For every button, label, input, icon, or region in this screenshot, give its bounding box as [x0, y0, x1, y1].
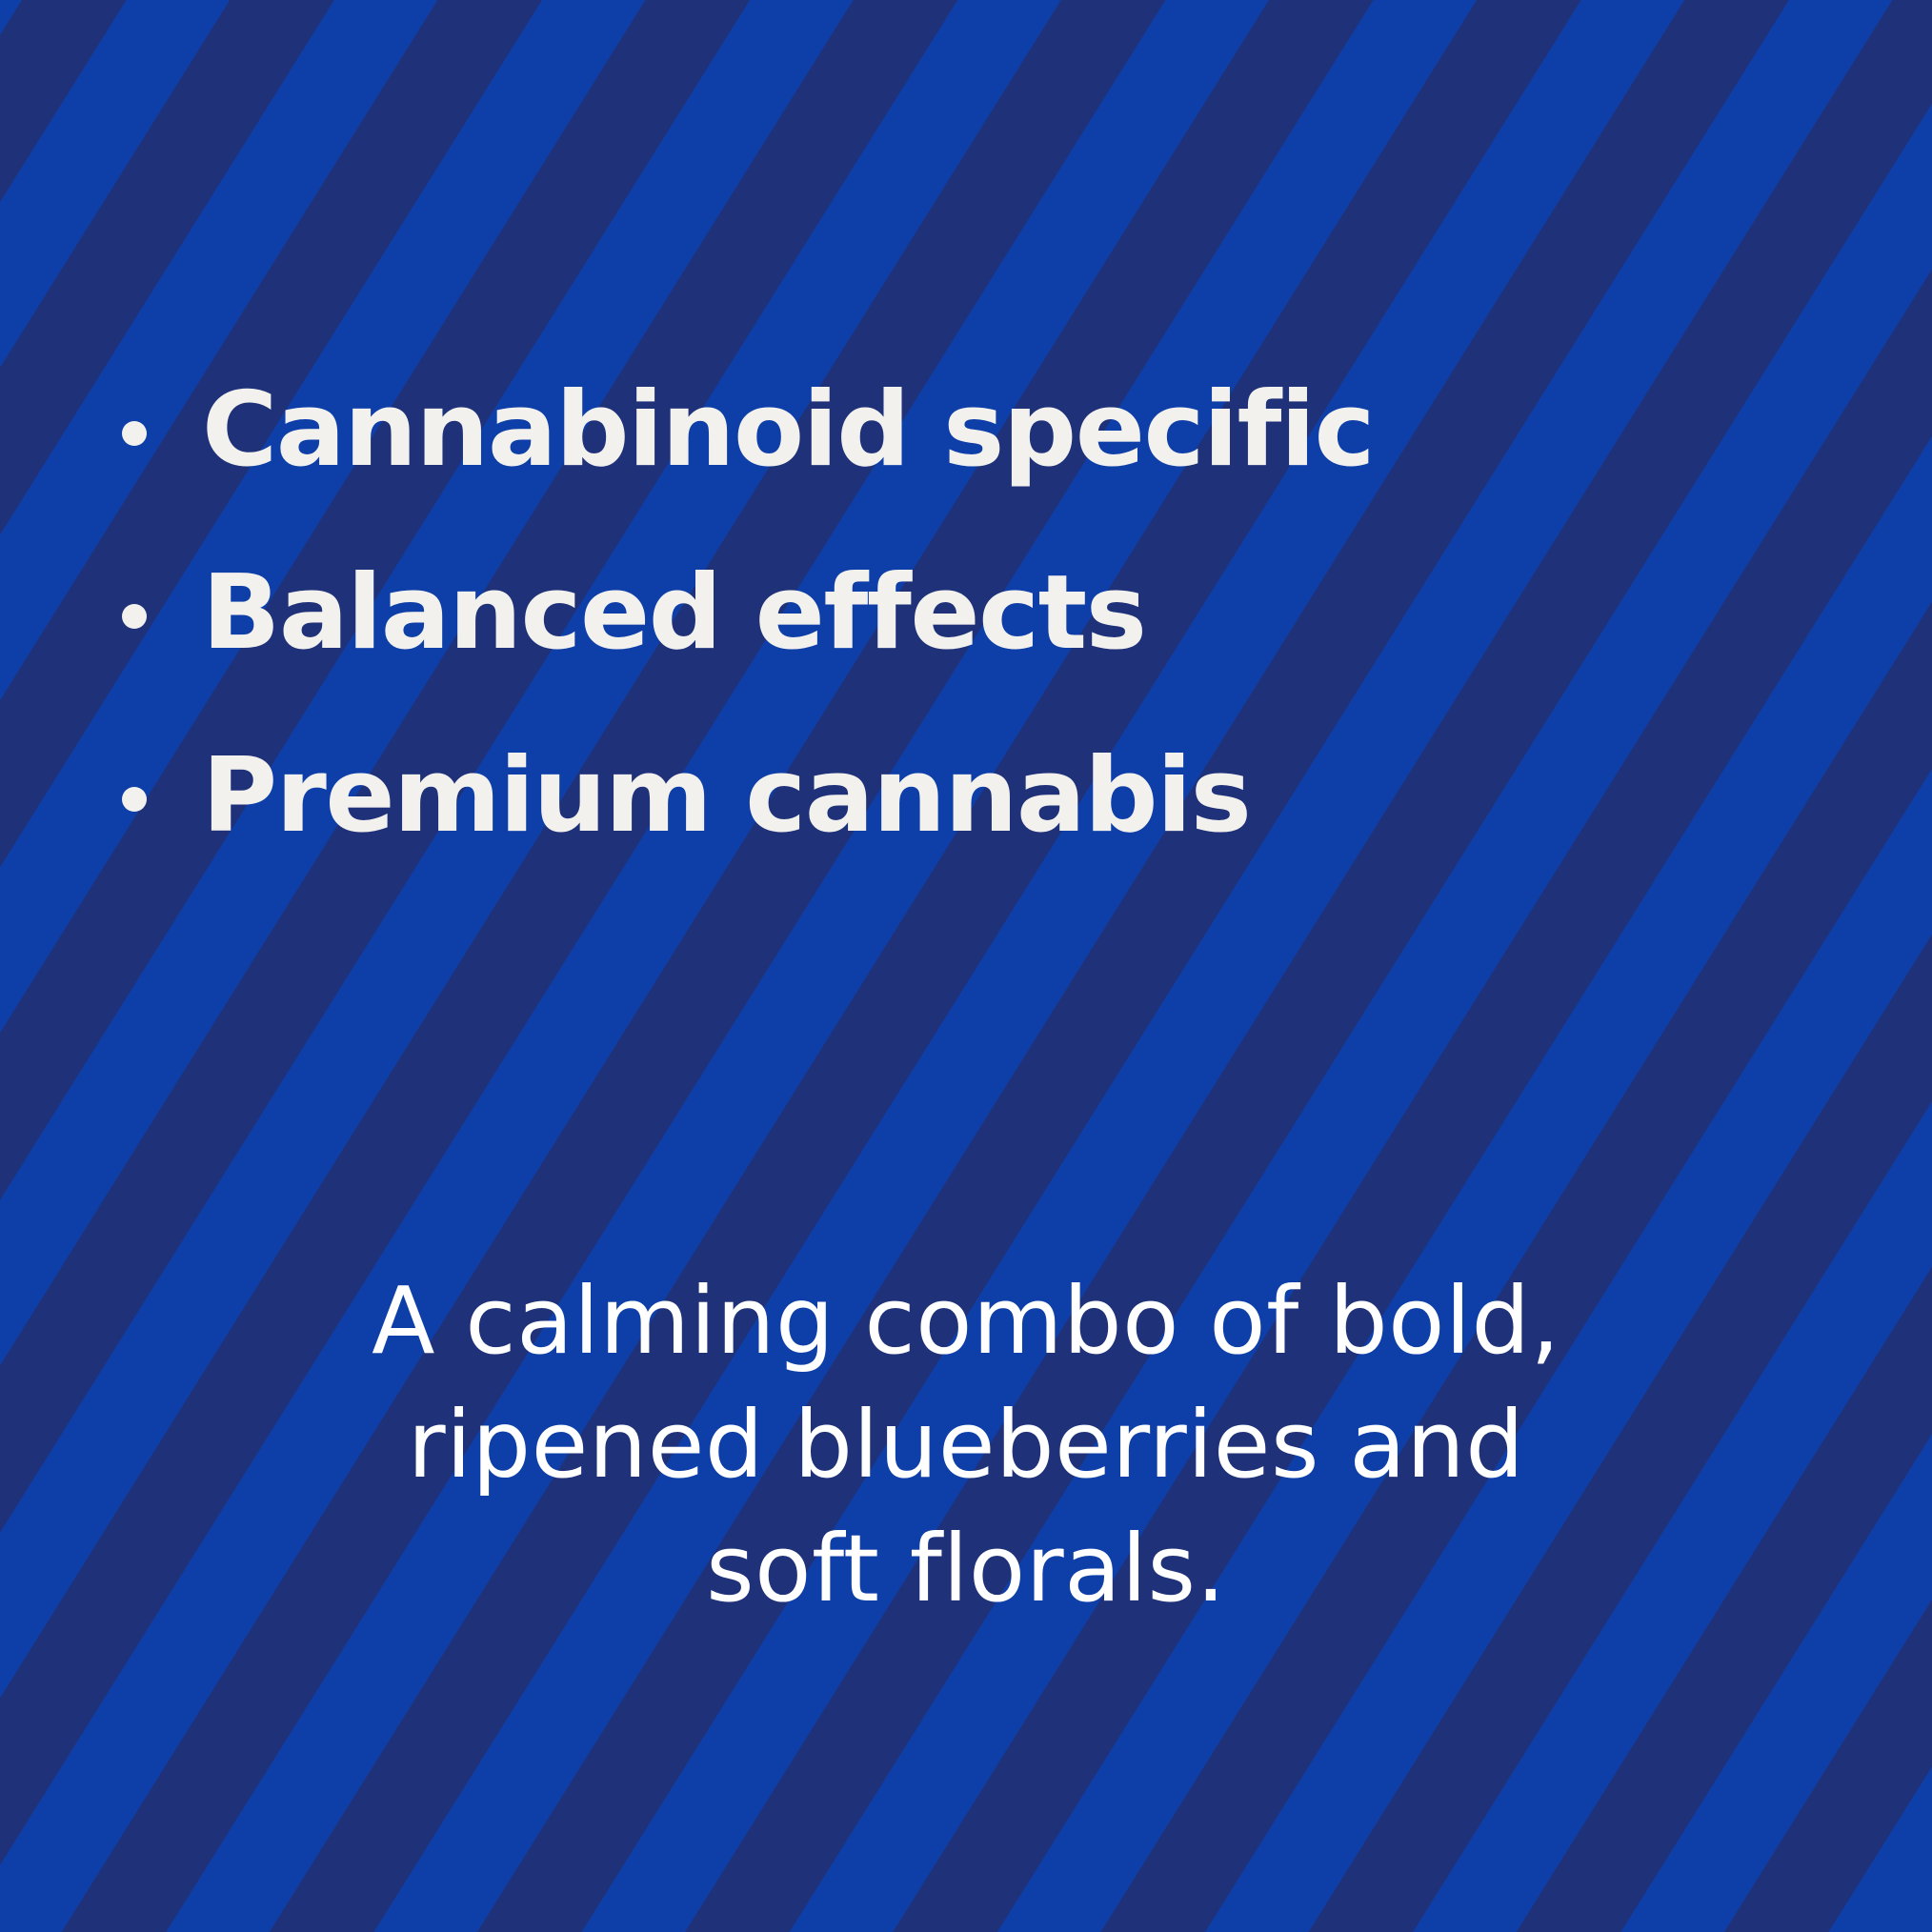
- bullet-dot-icon: [122, 604, 147, 629]
- bullet-dot-icon: [122, 787, 147, 812]
- feature-label: Premium cannabis: [202, 745, 1250, 848]
- bullet-dot-icon: [122, 421, 147, 446]
- product-description: A calming combo of bold, ripened blueber…: [162, 1259, 1770, 1631]
- card-content: Cannabinoid specific Balanced effects Pr…: [0, 0, 1932, 1932]
- description-line: soft florals.: [162, 1507, 1770, 1631]
- list-item: Premium cannabis: [122, 745, 1818, 848]
- description-line: A calming combo of bold,: [162, 1259, 1770, 1383]
- feature-label: Balanced effects: [202, 562, 1146, 665]
- description-line: ripened blueberries and: [162, 1383, 1770, 1507]
- feature-label: Cannabinoid specific: [202, 379, 1374, 482]
- product-feature-card: Cannabinoid specific Balanced effects Pr…: [0, 0, 1932, 1932]
- list-item: Balanced effects: [122, 562, 1818, 665]
- feature-bullet-list: Cannabinoid specific Balanced effects Pr…: [122, 379, 1818, 848]
- list-item: Cannabinoid specific: [122, 379, 1818, 482]
